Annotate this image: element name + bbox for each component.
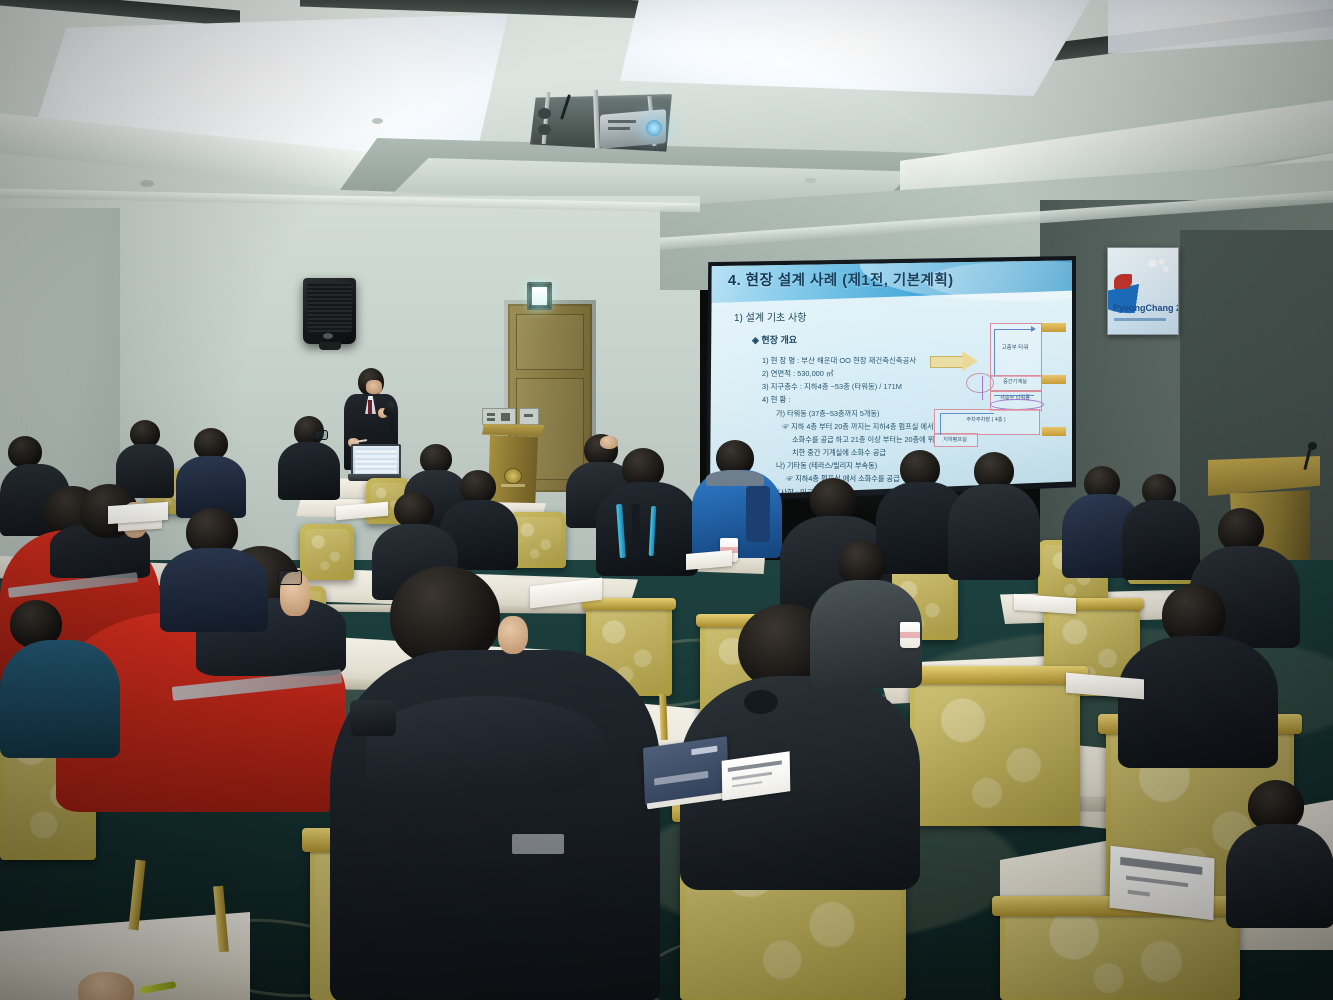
diagram-label-parking: 주차주차장 ( 4층 ) [934, 416, 1038, 423]
person-hand [498, 616, 528, 654]
presenter-tie [368, 400, 372, 414]
diagram-return-ellipse [966, 373, 994, 393]
person-jacket [948, 484, 1040, 580]
slide-section-bullet: ◈ 현장 개요 [752, 333, 797, 346]
audience-member [0, 600, 120, 750]
diagram-floor-bar [1042, 427, 1066, 436]
banner-label: PyeongChang 2018 [1113, 303, 1179, 313]
ceiling-spot [140, 180, 154, 187]
chair-foreground[interactable] [910, 676, 1080, 826]
slide-title: 4. 현장 설계 사례 (제1전, 기본계획) [728, 269, 954, 290]
slide-line: 1) 현 장 명 : 부산 해운대 OO 현장 재건축신축공사 [762, 355, 916, 366]
paper-text-line [1120, 857, 1202, 875]
projector-lens [646, 120, 662, 136]
audience-member [1122, 474, 1200, 576]
projector-vent [608, 127, 630, 130]
diagram-entry-arrow-icon [930, 351, 982, 371]
laptop-screen-content [355, 448, 397, 475]
paper-text-line [732, 772, 772, 781]
bag-under-table [744, 690, 778, 714]
ceiling-spot [805, 178, 816, 183]
bag-under-table [350, 700, 396, 736]
paper-text-line [1128, 890, 1150, 897]
chair-foreground[interactable] [1000, 906, 1240, 1000]
speaker-logo [323, 333, 333, 339]
person-jacket [1122, 500, 1200, 580]
person-head [460, 470, 496, 504]
podium2-microphone-head [1308, 442, 1317, 450]
jacket-stripe-dark [632, 504, 641, 558]
person-head [394, 492, 434, 528]
audience-member [116, 420, 174, 494]
projector-bolt [538, 124, 551, 135]
diagram-supply-riser [940, 413, 941, 435]
seminar-room-photo: PyeongChang 2018 4. 현장 설계 사례 (제1전, 기본계획)… [0, 0, 1333, 1000]
paper-text-line [1126, 876, 1188, 888]
diagram-label-tower: 고층부 타워 [990, 343, 1040, 351]
jacket-logo [512, 834, 564, 854]
slide-line: 3) 지구층수 : 지하4층 ~53층 (타워동) / 171M [762, 381, 902, 392]
ceiling-spot [372, 118, 383, 124]
paper-coffee-cup[interactable] [900, 622, 920, 648]
diagram-floor-bar [1042, 375, 1066, 384]
diagram-label-machineroom: 중간기계실 [990, 378, 1040, 385]
chair-cushion [1005, 911, 1235, 995]
ceiling-projector [522, 90, 682, 168]
slide-line: 치한 중간 기계실에 소화수 공급 [792, 448, 886, 458]
audience-member [176, 428, 246, 514]
wall-speaker [303, 278, 356, 350]
banner-accent-red [1114, 274, 1132, 289]
slide-line: ☞ 지하 4층 부터 20층 까지는 지하4층 펌프실 에서 [782, 422, 934, 432]
door-panel [516, 314, 584, 370]
diagram-flow-line [994, 329, 1034, 330]
wall-outlet[interactable] [519, 408, 539, 425]
podium2-top-surface [1208, 456, 1320, 496]
diagram-supply-riser [940, 413, 994, 414]
slide-line: 가) 타워동 (37층~53층까지 5개동) [776, 409, 879, 419]
diagram-arrowhead-icon [1031, 326, 1036, 332]
diagram-riser-line [982, 376, 983, 400]
eyeglasses [278, 570, 302, 585]
slide-line: 소화수를 공급 하고 21층 이상 부터는 20층에 위 [792, 435, 934, 445]
person-jacket [278, 442, 340, 500]
jacket-hood [366, 696, 606, 792]
diagram-flow-line [994, 329, 995, 377]
person-jacket [160, 548, 268, 632]
presenter-face [366, 380, 382, 394]
audience-member [1118, 584, 1278, 764]
diagram-label-pumproom: 지하펌프실 [934, 436, 976, 443]
chair-cushion [915, 681, 1075, 821]
slide-line: 2) 연면적 : 530,000 ㎡ [762, 368, 833, 379]
cup-band [900, 632, 920, 638]
paper-text-line [728, 760, 782, 772]
banner-dots-icon [1148, 258, 1170, 276]
slide-line: 나) 기타동 (테라스/빌리지 부속동) [776, 461, 877, 471]
exit-sign-light [532, 287, 547, 305]
chair-cushion [513, 517, 561, 563]
diagram-flow-line [994, 395, 1034, 396]
notebook-title-block [654, 771, 708, 786]
banner-underline [1114, 318, 1166, 321]
person-jacket [1226, 824, 1333, 928]
pyeongchang-banner: PyeongChang 2018 [1107, 247, 1179, 335]
exit-sign [527, 282, 552, 310]
projector-bolt [538, 108, 551, 119]
audience-member [278, 416, 340, 496]
jacket-panel [746, 486, 770, 542]
audience-member [46, 484, 166, 604]
podium-top-surface [482, 424, 544, 436]
navy-notebook[interactable] [643, 736, 729, 806]
hand-on-table [78, 972, 134, 1000]
audience-member [948, 452, 1040, 576]
wall-outlet[interactable] [482, 408, 516, 425]
audience-member [160, 508, 268, 628]
audience-member-foreground-center [330, 566, 660, 1000]
speaker-grille [307, 282, 352, 332]
slide-subtitle: 1) 설계 기초 사항 [734, 309, 806, 324]
slide-diagram: 고층부 타워 중간기계실 저층부 타워동 주차주차장 ( 4층 ) 지하펌프실 [932, 321, 1070, 446]
audience-member [596, 448, 698, 572]
jacket-collar [706, 470, 764, 486]
chair-frame [902, 666, 1088, 684]
speaker-bracket [319, 342, 341, 350]
eyeglasses [314, 430, 328, 440]
paper-text-line [732, 781, 762, 787]
slide-line: 4) 현 황 : [762, 394, 790, 405]
handout-paper[interactable] [1109, 846, 1214, 921]
audience-member [810, 540, 922, 680]
audience-member [1226, 780, 1333, 920]
diagram-floor-bar [1042, 323, 1066, 332]
notebook-logo [691, 746, 717, 756]
ceiling-spot [206, 36, 213, 41]
projector-vent [608, 120, 636, 123]
person-jacket [596, 482, 698, 576]
person-jacket [1118, 636, 1278, 768]
person-jacket [0, 640, 120, 758]
ceiling-light-panel-2 [620, 0, 1090, 96]
